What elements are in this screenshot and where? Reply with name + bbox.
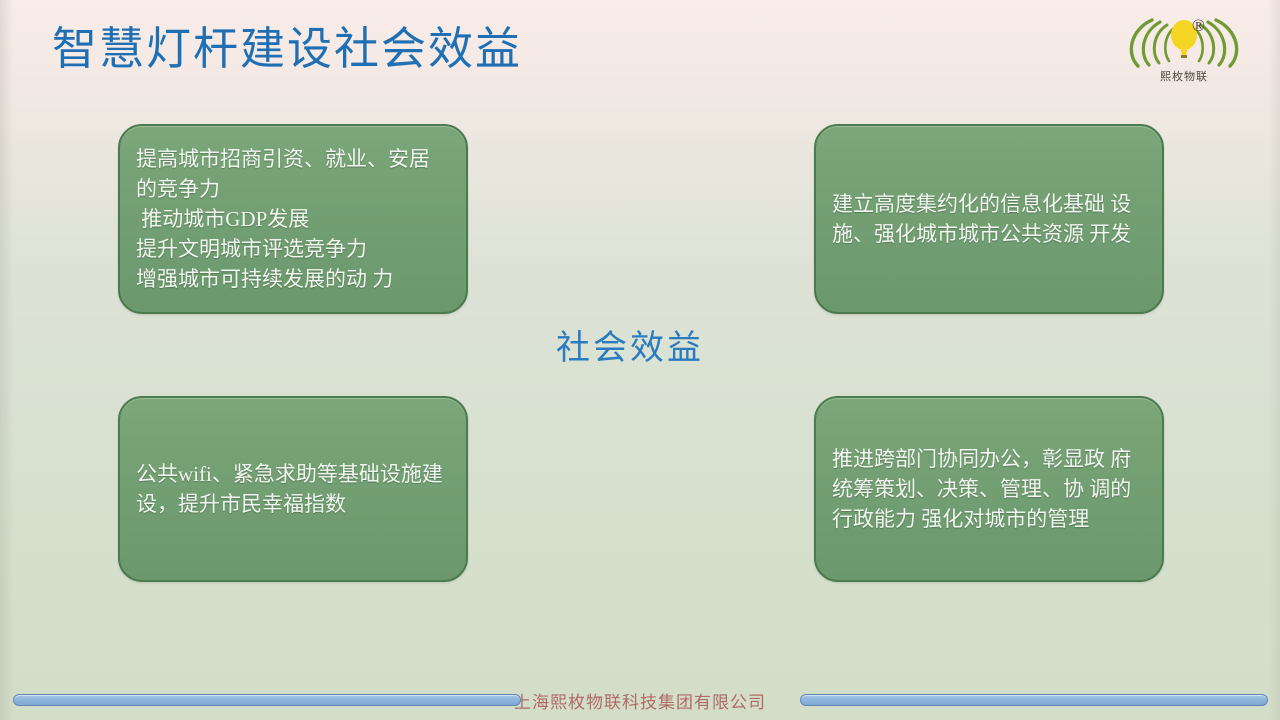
benefit-box-bottom-left: 公共wifi、紧急求助等基础设施建设，提升市民幸福指数 — [118, 396, 468, 582]
center-heading: 社会效益 — [556, 320, 704, 369]
page-title: 智慧灯杆建设社会效益 — [52, 22, 522, 76]
benefit-box-top-left-text: 提高城市招商引资、就业、安居的竞争力 推动城市GDP发展 提升文明城市评选竞争力… — [136, 144, 450, 294]
benefit-box-top-right: 建立高度集约化的信息化基础 设施、强化城市城市公共资源 开发 — [814, 124, 1164, 314]
benefit-box-top-left: 提高城市招商引资、就业、安居的竞争力 推动城市GDP发展 提升文明城市评选竞争力… — [118, 124, 468, 314]
slide-canvas: 智慧灯杆建设社会效益 ® 熙枚物联 提高城市招商引资、就业、安居的竞争力 推动城… — [0, 0, 1280, 720]
registered-trademark-icon: ® — [1192, 16, 1205, 36]
benefit-box-bottom-right-text: 推进跨部门协同办公，彰显政 府统筹策划、决策、管理、协 调的行政能力 强化对城市… — [832, 444, 1146, 534]
benefit-box-top-right-text: 建立高度集约化的信息化基础 设施、强化城市城市公共资源 开发 — [832, 189, 1146, 249]
benefit-box-bottom-right: 推进跨部门协同办公，彰显政 府统筹策划、决策、管理、协 调的行政能力 强化对城市… — [814, 396, 1164, 582]
company-logo: ® 熙枚物联 — [1100, 8, 1268, 90]
footer-company-name: 上海熙枚物联科技集团有限公司 — [0, 688, 1280, 713]
logo-caption: 熙枚物联 — [1100, 68, 1268, 84]
benefit-box-bottom-left-text: 公共wifi、紧急求助等基础设施建设，提升市民幸福指数 — [136, 459, 450, 519]
